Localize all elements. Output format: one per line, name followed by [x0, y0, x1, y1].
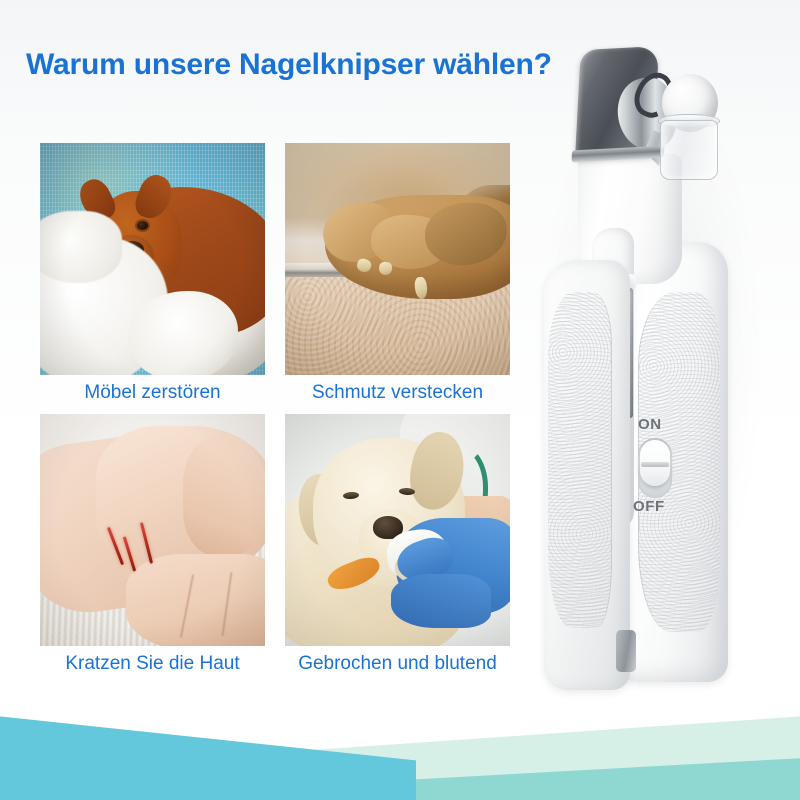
benefit-caption: Gebrochen und blutend: [285, 653, 510, 675]
benefit-photo-furry-paw: [285, 143, 510, 375]
photo-vignette: [40, 414, 265, 646]
product-transparent-guard: [660, 120, 718, 180]
benefit-photo-vet-bandaging-puppy: [285, 414, 510, 646]
photo-vignette: [285, 143, 510, 375]
benefit-photo-dog-destroying-cushion: [40, 143, 265, 375]
power-switch-off-label: OFF: [633, 498, 665, 515]
benefit-item-scratches: Kratzen Sie die Haut: [40, 414, 265, 675]
benefit-photo-scratched-hand: [40, 414, 265, 646]
photo-vignette: [285, 414, 510, 646]
benefit-item-bleeding: Gebrochen und blutend: [285, 414, 510, 675]
product-feature-banner: Warum unsere Nagelknipser wählen?: [0, 0, 800, 800]
product-hinge: [616, 630, 636, 672]
benefit-grid: Möbel zerstören: [40, 143, 510, 675]
benefit-caption: Kratzen Sie die Haut: [40, 653, 265, 675]
photo-vignette: [40, 143, 265, 375]
benefit-caption: Möbel zerstören: [40, 382, 265, 404]
page-title: Warum unsere Nagelknipser wählen?: [26, 48, 552, 82]
product-front-grip-texture: [548, 292, 612, 628]
power-switch-ridge: [641, 462, 669, 467]
power-switch-on-label: ON: [638, 416, 662, 433]
product-image-nail-grinder: ON OFF: [520, 42, 780, 692]
benefit-caption: Schmutz verstecken: [285, 382, 510, 404]
benefit-item-dirt: Schmutz verstecken: [285, 143, 510, 404]
benefit-item-furniture: Möbel zerstören: [40, 143, 265, 404]
